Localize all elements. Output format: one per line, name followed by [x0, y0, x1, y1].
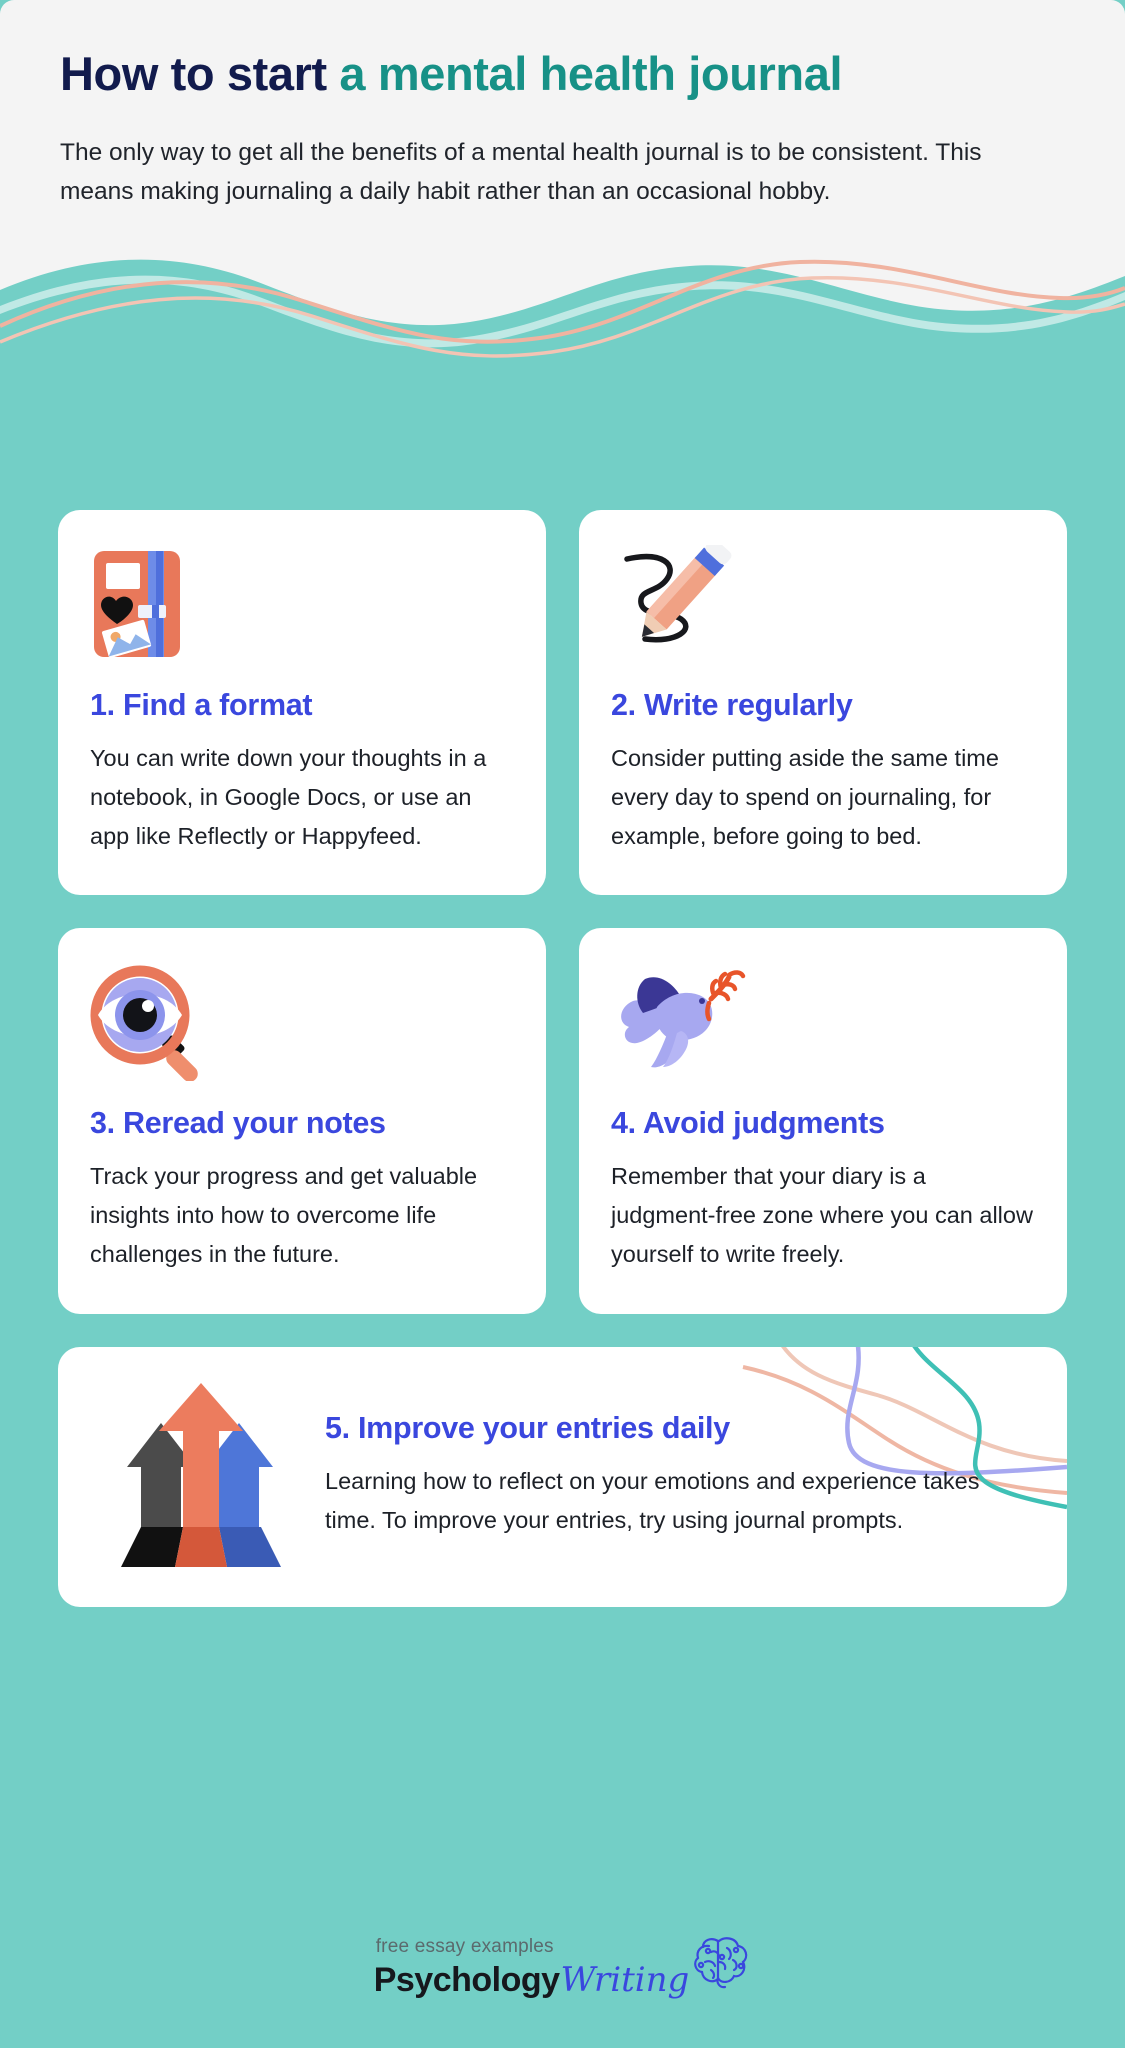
cards-grid: 1. Find a format You can write down your…: [0, 510, 1125, 1640]
card-reread-your-notes[interactable]: 3. Reread your notes Track your progress…: [58, 928, 546, 1313]
growth-arrows-icon: [111, 1381, 289, 1571]
card-write-regularly[interactable]: 2. Write regularly Consider putting asid…: [579, 510, 1067, 895]
card-icon-wrapper: [611, 964, 1035, 1080]
page-title-part2: a mental health journal: [339, 47, 842, 100]
card-icon-wrapper: [92, 1381, 307, 1571]
card-avoid-judgments[interactable]: 4. Avoid judgments Remember that your di…: [579, 928, 1067, 1313]
card-title: 1. Find a format: [90, 688, 514, 723]
brand-secondary: Writing: [561, 1960, 690, 2000]
card-improve-your-entries-daily[interactable]: 5. Improve your entries daily Learning h…: [58, 1347, 1067, 1607]
header-section: How to start a mental health journal The…: [0, 0, 1125, 330]
card-icon-wrapper: [90, 546, 514, 662]
footer-brand: Psychology Writing: [374, 1960, 690, 2000]
card-row-3: 5. Improve your entries daily Learning h…: [58, 1347, 1067, 1607]
card-find-a-format[interactable]: 1. Find a format You can write down your…: [58, 510, 546, 895]
card-body: Track your progress and get valuable ins…: [90, 1157, 514, 1273]
magnifier-eye-icon: [90, 963, 210, 1081]
footer-logo[interactable]: free essay examples Psychology Writing: [374, 1932, 752, 2004]
card-body: Remember that your diary is a judgment-f…: [611, 1157, 1035, 1273]
card-body: You can write down your thoughts in a no…: [90, 739, 514, 855]
card-title: 5. Improve your entries daily: [325, 1411, 1027, 1446]
card-text-block: 5. Improve your entries daily Learning h…: [325, 1411, 1027, 1540]
card-title: 2. Write regularly: [611, 688, 1035, 723]
card-row-1: 1. Find a format You can write down your…: [58, 510, 1067, 895]
page-title-part1: How to start: [60, 47, 339, 100]
card-icon-wrapper: [611, 546, 1035, 662]
page-subtitle: The only way to get all the benefits of …: [60, 133, 1060, 212]
card-body: Learning how to reflect on your emotions…: [325, 1462, 1027, 1540]
card-row-2: 3. Reread your notes Track your progress…: [58, 928, 1067, 1313]
footer-logo-text: free essay examples Psychology Writing: [374, 1936, 690, 2000]
card-icon-wrapper: [90, 964, 514, 1080]
footer-section: free essay examples Psychology Writing: [0, 1932, 1125, 2004]
dove-icon: [611, 963, 751, 1081]
brand-primary: Psychology: [374, 1961, 560, 2000]
card-title: 4. Avoid judgments: [611, 1106, 1035, 1141]
infographic-page: How to start a mental health journal The…: [0, 0, 1125, 2048]
brain-icon: [689, 1932, 751, 1990]
page-title: How to start a mental health journal: [60, 48, 1067, 101]
card-body: Consider putting aside the same time eve…: [611, 739, 1035, 855]
footer-tagline: free essay examples: [376, 1936, 554, 1958]
card-title: 3. Reread your notes: [90, 1106, 514, 1141]
pencil-icon: [611, 545, 741, 663]
notebook-icon: [90, 545, 190, 663]
